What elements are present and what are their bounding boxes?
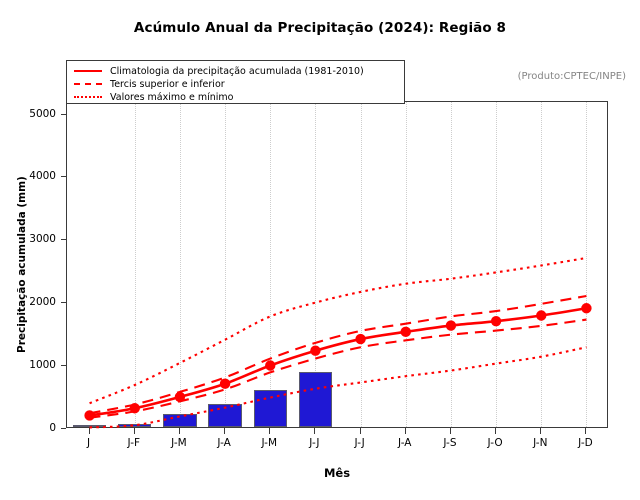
x-tick-label: J-F (127, 437, 140, 449)
legend-line-glyph (74, 70, 102, 72)
y-tick-label: 3000 (12, 233, 56, 245)
line-dotted-icon (74, 92, 102, 102)
gridline (586, 102, 587, 427)
x-tick-mark (360, 428, 361, 434)
x-tick-label: J-J (354, 437, 364, 449)
series-line (90, 296, 587, 413)
legend-item-label: Tercis superior e inferior (110, 79, 225, 90)
legend-item-label: Valores máximo e mínimo (110, 92, 233, 103)
gridline (270, 102, 271, 427)
legend-item-label: Climatologia da precipitação acumulada (… (110, 66, 364, 77)
bar (73, 425, 106, 427)
x-tick-label: J-O (488, 437, 503, 449)
x-tick-mark (224, 428, 225, 434)
legend-line-glyph (74, 96, 102, 98)
legend-line-glyph (74, 83, 102, 85)
x-tick-mark (540, 428, 541, 434)
series-line (90, 320, 587, 418)
y-tick-label: 1000 (12, 359, 56, 371)
x-tick-mark (495, 428, 496, 434)
y-tick-label: 4000 (12, 170, 56, 182)
x-tick-mark (405, 428, 406, 434)
y-tick-label: 0 (12, 422, 56, 434)
x-tick-mark (179, 428, 180, 434)
x-tick-mark (450, 428, 451, 434)
x-tick-label: J (87, 437, 90, 449)
climatology-lines (67, 102, 609, 429)
x-tick-label: J-J (309, 437, 319, 449)
x-tick-label: J-M (261, 437, 277, 449)
plot-area (66, 101, 608, 428)
gridline (451, 102, 452, 427)
y-axis-title: Precipitação acumulada (mm) (16, 176, 28, 353)
legend-item: Tercis superior e inferior (67, 78, 404, 90)
bar (118, 424, 151, 427)
y-tick-label: 5000 (12, 108, 56, 120)
bar (208, 404, 241, 427)
legend: Climatologia da precipitação acumulada (… (66, 60, 405, 104)
gridline (361, 102, 362, 427)
x-tick-label: J-S (443, 437, 456, 449)
line-solid-icon (74, 66, 102, 76)
y-tick-label: 2000 (12, 296, 56, 308)
x-tick-mark (585, 428, 586, 434)
bar (163, 414, 196, 427)
x-tick-label: J-N (533, 437, 547, 449)
bar (254, 390, 287, 427)
gridline (225, 102, 226, 427)
x-tick-label: J-A (217, 437, 230, 449)
x-tick-mark (314, 428, 315, 434)
series-marker (84, 410, 94, 420)
x-axis-title: Mês (66, 466, 608, 480)
series-line (90, 308, 587, 415)
x-tick-mark (89, 428, 90, 434)
legend-item: Climatologia da precipitação acumulada (… (67, 65, 404, 77)
x-tick-mark (134, 428, 135, 434)
x-tick-label: J-M (171, 437, 187, 449)
gridline (541, 102, 542, 427)
gridline (135, 102, 136, 427)
x-tick-mark (269, 428, 270, 434)
y-tick-mark (61, 428, 66, 429)
bar (299, 372, 332, 427)
chart-figure: Acúmulo Anual da Precipitação (2024): Re… (0, 0, 640, 500)
x-tick-label: J-A (398, 437, 411, 449)
gridline (180, 102, 181, 427)
series-line (90, 258, 587, 403)
page-title: Acúmulo Anual da Precipitação (2024): Re… (0, 20, 640, 36)
line-dashed-icon (74, 79, 102, 89)
gridline (406, 102, 407, 427)
x-tick-label: J-D (578, 437, 593, 449)
legend-item: Valores máximo e mínimo (67, 91, 404, 103)
producer-note: (Produto:CPTEC/INPE) (518, 71, 626, 82)
gridline (496, 102, 497, 427)
